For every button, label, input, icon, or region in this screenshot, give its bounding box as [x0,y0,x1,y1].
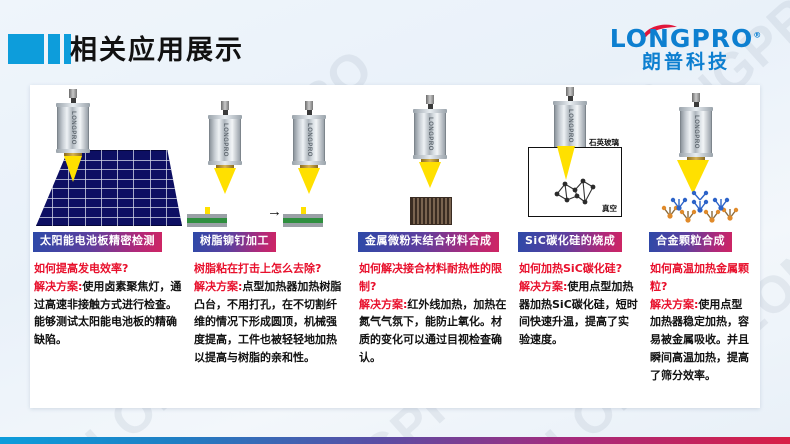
heater-body-label: LONGPRO [70,111,76,145]
badge-wrap-2: 树脂铆钉加工 [190,230,355,254]
light-beam [64,156,82,182]
question-alloy: 如何高温加热金属颗粒? [650,260,752,296]
heater-body-label: LONGPRO [222,123,228,157]
panel-columns: LONGPRO 太阳能电池板精密检测 如何提高发电效率? 解决方案:使用卤素聚焦… [30,85,760,408]
panel-badge-rivet: 树脂铆钉加工 [193,232,276,251]
light-beam [419,162,441,188]
panel-badge-powder: 金属微粉末结合材料合成 [358,232,499,251]
panel-sic-sintering: LONGPRO 石英玻璃 [515,85,646,408]
panel-solar-panel-inspection: LONGPRO 太阳能电池板精密检测 如何提高发电效率? 解决方案:使用卤素聚焦… [30,85,190,408]
halogen-heater-device: LONGPRO [56,89,90,182]
solution-label-alloy: 解决方案: [650,298,698,311]
badge-wrap-1: 太阳能电池板精密检测 [30,230,190,254]
heater-body-label: LONGPRO [567,109,573,143]
point-heater-device-after: LONGPRO [292,101,326,194]
bottom-accent-bar [0,437,790,444]
infrared-heater-device: LONGPRO [413,95,447,188]
heater-body: LONGPRO [57,107,89,149]
panel-text-rivet: 树脂粘在打击上怎么去除? 解决方案:点型加热器加热树脂凸台，不用打孔，在不切割纤… [190,254,355,367]
solar-grid-line-h [36,198,182,199]
light-beam [298,168,320,194]
slide-root: LONGPROLONGPROLONGPROLONGPROLONGPROLONGP… [0,0,790,444]
question-solar: 如何提高发电效率? [34,260,182,278]
panel-text-alloy: 如何高温加热金属颗粒? 解决方案:使用点型加热器稳定加热，容易被金属吸收。并且瞬… [646,254,760,385]
heater-body-label: LONGPRO [693,115,699,149]
process-arrow: → [267,203,282,220]
panel-badge-solar: 太阳能电池板精密检测 [33,232,162,251]
question-rivet: 树脂粘在打击上怎么去除? [194,260,347,278]
heater-cap [69,89,77,98]
solar-grid-line-h [36,207,182,208]
workpiece-plate-bottom [187,223,227,227]
logo-wordmark: LONGPRO® [596,26,776,51]
workpiece-before [187,207,227,227]
panel-badge-alloy: 合金颗粒合成 [649,232,732,251]
light-beam [214,168,236,194]
logo-chinese-name: 朗普科技 [596,53,776,72]
brand-logo: LONGPRO® 朗普科技 [596,26,776,72]
point-heater-device-sic: LONGPRO [553,87,587,154]
illustration-powder: LONGPRO [355,85,515,230]
heater-body: LONGPRO [554,105,586,147]
heater-body: LONGPRO [209,119,241,161]
light-beam [557,146,575,180]
panel-text-solar: 如何提高发电效率? 解决方案:使用卤素聚焦灯，通过高速非接触方式进行检查。能够测… [30,254,190,349]
vacuum-label: 真空 [602,203,617,214]
point-heater-device-before: LONGPRO [208,101,242,194]
heater-body: LONGPRO [414,113,446,155]
badge-wrap-5: 合金颗粒合成 [646,230,760,254]
solution-label-solar: 解决方案: [34,280,82,293]
point-heater-device-alloy: LONGPRO [679,93,713,194]
workpiece-after [283,207,323,227]
metal-powder-block [410,197,452,225]
content-card: LONGPRO 太阳能电池板精密检测 如何提高发电效率? 解决方案:使用卤素聚焦… [30,85,760,408]
accent-bar-2 [48,34,60,64]
panel-badge-sic: SiC碳化硅的烧成 [518,232,622,251]
solution-label-rivet: 解决方案: [194,280,242,293]
solution-label-sic: 解决方案: [519,280,567,293]
panel-alloy-particle-synthesis: LONGPRO [646,85,760,408]
illustration-sic: LONGPRO 石英玻璃 [515,85,646,230]
sic-crystal-lattice-icon [551,176,599,206]
logo-text: LONGPRO [610,24,754,53]
panel-metal-micro-powder-bonding: LONGPRO 金属微粉末结合材料合成 如何解决接合材料耐热性的限制? 解决方案… [355,85,515,408]
heater-cap [566,87,574,96]
heater-body-label: LONGPRO [306,123,312,157]
illustration-rivet: LONGPRO → [190,85,355,230]
title-accent-bars [8,34,71,64]
solar-grid-line-h [36,188,182,189]
panel-resin-rivet-processing: LONGPRO → [190,85,355,408]
slide-header: 相关应用展示 LONGPRO® 朗普科技 [0,0,790,85]
badge-wrap-3: 金属微粉末结合材料合成 [355,230,515,254]
question-powder: 如何解决接合材料耐热性的限制? [359,260,507,296]
alloy-molecule-cluster-icon [654,190,754,228]
panel-text-powder: 如何解决接合材料耐热性的限制? 解决方案:红外线加热，加热在氮气气氛下，能防止氧… [355,254,515,367]
heater-cap [305,101,313,110]
panel-text-sic: 如何加热SiC碳化硅? 解决方案:使用点型加热器加热SiC碳化硅，短时间快速升温… [515,254,646,349]
logo-registered-mark: ® [753,31,762,40]
heater-body: LONGPRO [680,111,712,153]
heater-cap [426,95,434,104]
heater-cap [692,93,700,102]
accent-bar-1 [8,34,44,64]
illustration-solar: LONGPRO [30,85,190,230]
page-title: 相关应用展示 [70,28,244,67]
solar-grid-line-h [36,217,182,218]
heater-body-label: LONGPRO [427,117,433,151]
solution-label-powder: 解决方案: [359,298,407,311]
heater-body: LONGPRO [293,119,325,161]
badge-wrap-4: SiC碳化硅的烧成 [515,230,646,254]
heater-cap [221,101,229,110]
workpiece-plate-bottom [283,223,323,227]
question-sic: 如何加热SiC碳化硅? [519,260,638,278]
illustration-alloy: LONGPRO [646,85,760,230]
light-beam [677,160,709,194]
vacuum-chamber: 真空 [528,147,622,217]
